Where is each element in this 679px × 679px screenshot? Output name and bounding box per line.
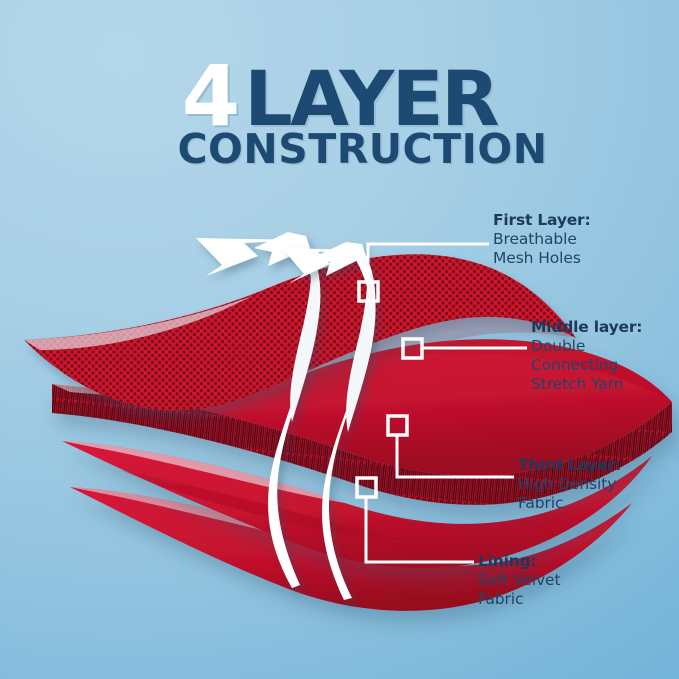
callout-line: Double: [531, 337, 642, 356]
callout-first-layer: First Layer: Breathable Mesh Holes: [493, 211, 591, 268]
callout-line: Fabric: [518, 494, 621, 513]
callout-third-layer: Third Layer: High Density Fabric: [518, 456, 621, 513]
callout-line: Stretch Yarn: [531, 375, 642, 394]
callout-lining: Lining: Soft Velvet Fabric: [478, 552, 560, 609]
callout-title: Middle layer:: [531, 318, 642, 337]
callout-middle-layer: Middle layer: Double Connecting Stretch …: [531, 318, 642, 394]
callout-line: Connecting: [531, 356, 642, 375]
callout-line: Mesh Holes: [493, 249, 591, 268]
callout-line: Soft Velvet: [478, 571, 560, 590]
infographic-canvas: 4LAYER CONSTRUCTION: [0, 0, 679, 679]
callout-line: Fabric: [478, 590, 560, 609]
callout-title: Third Layer:: [518, 456, 621, 475]
callout-line: Breathable: [493, 230, 591, 249]
callout-title: Lining:: [478, 552, 560, 571]
callout-line: High Density: [518, 475, 621, 494]
callout-title: First Layer:: [493, 211, 591, 230]
